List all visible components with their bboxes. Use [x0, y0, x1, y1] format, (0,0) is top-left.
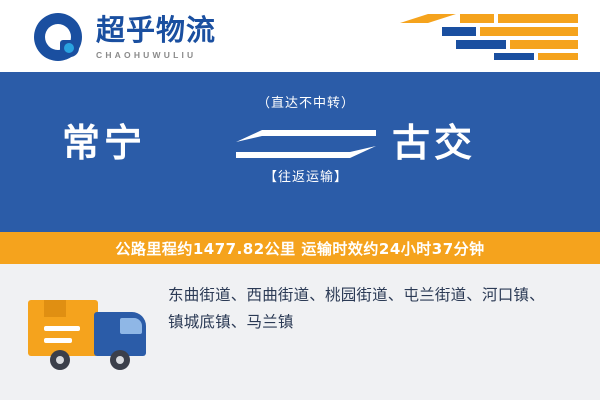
brand-block: 超乎物流 CHAOHUWULIU [96, 13, 286, 60]
brand-name-cn: 超乎物流 [96, 13, 286, 47]
header: 超乎物流 CHAOHUWULIU [0, 0, 600, 72]
coverage-area-list: 东曲街道、西曲街道、桃园街道、屯兰街道、河口镇、 镇城底镇、马兰镇 [168, 282, 578, 336]
chevron-stripes-icon [398, 14, 578, 60]
route-panel: 常宁 （直达不中转） 【往返运输】 古交 [0, 72, 600, 232]
truck-wheel-rear [110, 350, 130, 370]
truck-stripe-bottom-shape [44, 338, 72, 343]
info-bar: 公路里程约1477.82公里 运输时效约24小时37分钟 [0, 232, 600, 264]
route-bottom-label: 【往返运输】 [232, 166, 380, 185]
poster-root: 超乎物流 CHAOHUWULIU 常宁 （直达不中转） [0, 0, 600, 400]
truck-window-shape [120, 318, 142, 334]
double-arrow-svg [232, 122, 380, 162]
double-arrow-icon [232, 122, 380, 162]
distance-duration-text: 公路里程约1477.82公里 运输时效约24小时37分钟 [115, 238, 484, 259]
route-top-label: （直达不中转） [232, 94, 380, 114]
delivery-truck-icon [28, 282, 160, 374]
truck-wheel-hub [116, 356, 124, 364]
destination-city: 古交 [392, 112, 476, 167]
brand-name-en: CHAOHUWULIU [96, 50, 286, 60]
coverage-panel: 东曲街道、西曲街道、桃园街道、屯兰街道、河口镇、 镇城底镇、马兰镇 [0, 264, 600, 400]
coverage-area-line: 东曲街道、西曲街道、桃园街道、屯兰街道、河口镇、 [168, 282, 578, 309]
logistics-circle-logo-icon [34, 13, 82, 61]
truck-cargo-flap-shape [44, 300, 66, 317]
coverage-area-line: 镇城底镇、马兰镇 [168, 309, 578, 336]
truck-wheel-hub [56, 356, 64, 364]
logo-dot-shape [64, 43, 74, 53]
route-middle: （直达不中转） 【往返运输】 [232, 94, 380, 204]
truck-stripe-top-shape [44, 326, 80, 331]
chevron-stripes-svg [398, 14, 578, 60]
truck-wheel-front [50, 350, 70, 370]
origin-city: 常宁 [62, 112, 146, 167]
